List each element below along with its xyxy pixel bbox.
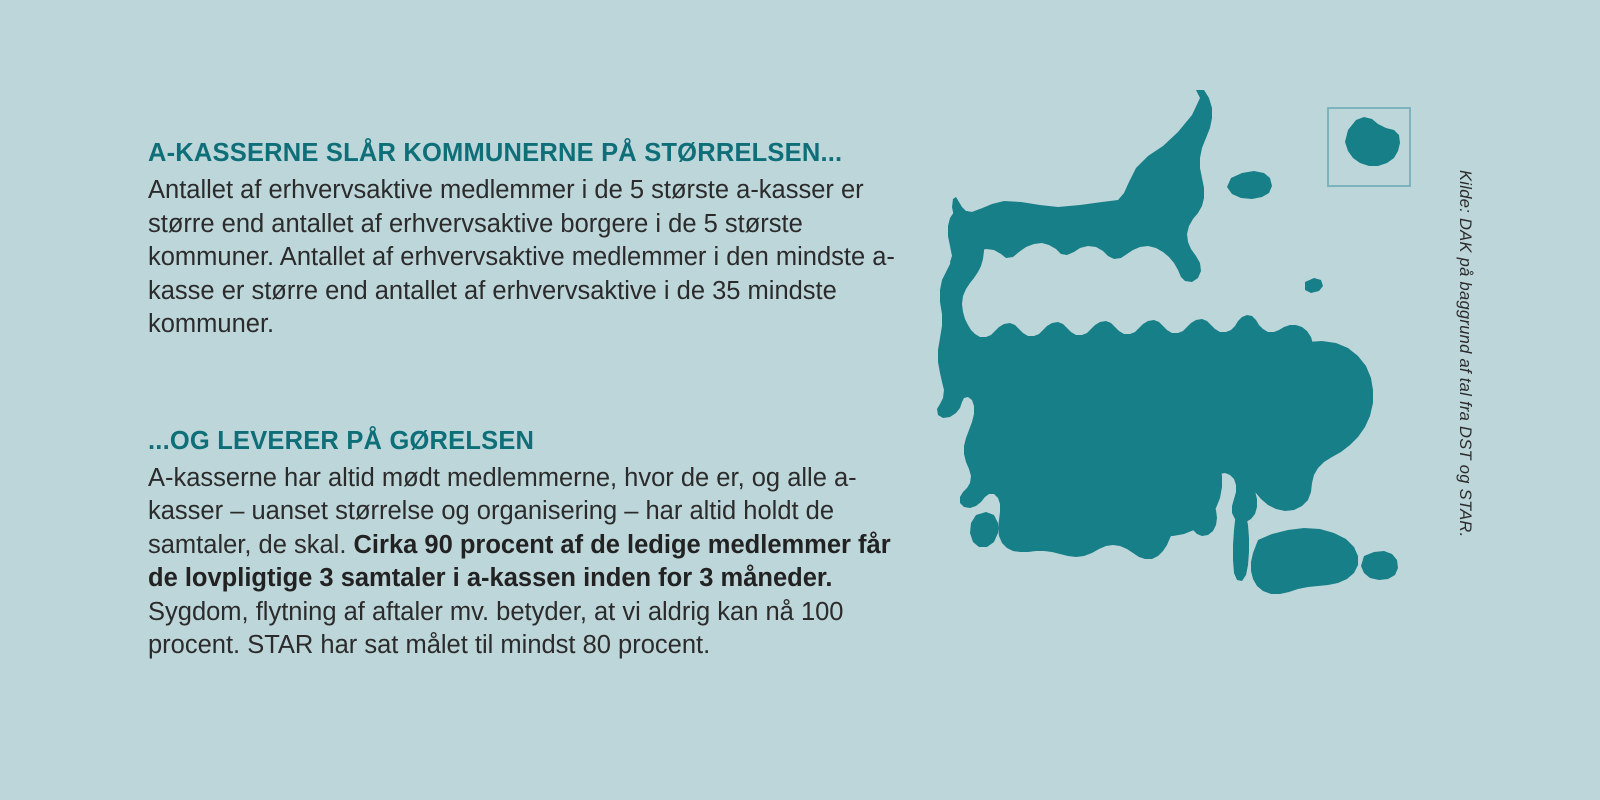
section-body-secondary: A-kasserne har altid mødt medlemmerne, h… bbox=[148, 462, 908, 663]
section-block-secondary: ...OG LEVERER PÅ GØRELSEN A-kasserne har… bbox=[148, 426, 908, 663]
map-region-lolland-falster bbox=[1251, 528, 1358, 594]
body-text-run: Antallet af erhvervsaktive medlemmer i d… bbox=[148, 176, 895, 338]
section-body-primary: Antallet af erhvervsaktive medlemmer i d… bbox=[148, 174, 908, 342]
map-region-bornholm bbox=[1345, 117, 1400, 166]
source-credit: Kilde: DAK på baggrund af tal fra DST og… bbox=[1455, 170, 1474, 620]
infographic-canvas: A-KASSERNE SLÅR KOMMUNERNE PÅ STØRRELSEN… bbox=[0, 0, 1600, 800]
section-heading-primary: A-KASSERNE SLÅR KOMMUNERNE PÅ STØRRELSEN… bbox=[148, 138, 908, 168]
denmark-map bbox=[880, 60, 1440, 720]
map-region-anholt bbox=[1305, 278, 1323, 293]
map-inset-bornholm bbox=[1328, 108, 1410, 186]
map-region-langeland bbox=[1233, 510, 1249, 581]
text-column: A-KASSERNE SLÅR KOMMUNERNE PÅ STØRRELSEN… bbox=[148, 138, 908, 663]
body-text-run: Sygdom, flytning af aftaler mv. betyder,… bbox=[148, 598, 844, 660]
section-block-primary: A-KASSERNE SLÅR KOMMUNERNE PÅ STØRRELSEN… bbox=[148, 138, 908, 342]
map-region-laesoe bbox=[1227, 171, 1272, 199]
section-heading-secondary: ...OG LEVERER PÅ GØRELSEN bbox=[148, 426, 908, 456]
map-region-moen bbox=[1361, 551, 1398, 580]
map-region-north-jutland bbox=[950, 90, 1212, 282]
map-region-als bbox=[970, 512, 998, 547]
